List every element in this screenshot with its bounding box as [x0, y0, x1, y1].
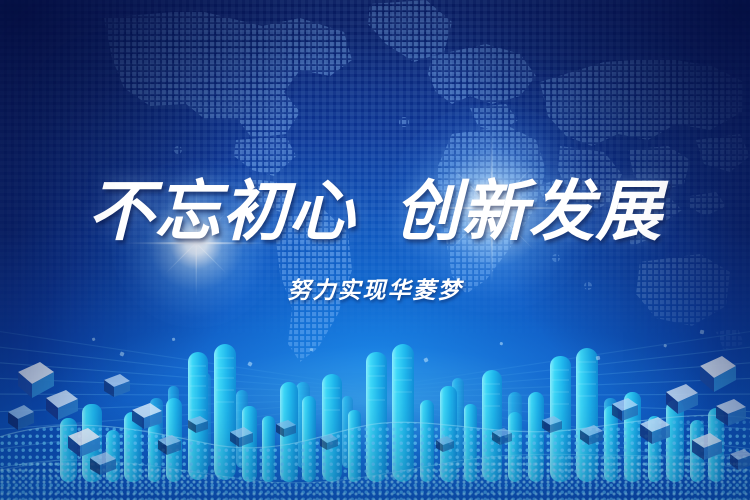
edge-vignette [0, 0, 750, 500]
cityscape-layer [0, 0, 750, 500]
world-map-layer [0, 0, 750, 500]
main-headline: 不忘初心 创新发展 [0, 178, 750, 244]
corner-vignette-layer [0, 0, 750, 500]
horizon-glow-layer [0, 0, 750, 500]
light-rays-layer [0, 0, 750, 500]
halftone-grid-layer [0, 0, 750, 500]
sky-gradient-layer [0, 0, 750, 500]
sub-headline: 努力实现华菱梦 [0, 277, 750, 303]
banner-canvas: 不忘初心 创新发展 努力实现华菱梦 [0, 0, 750, 500]
